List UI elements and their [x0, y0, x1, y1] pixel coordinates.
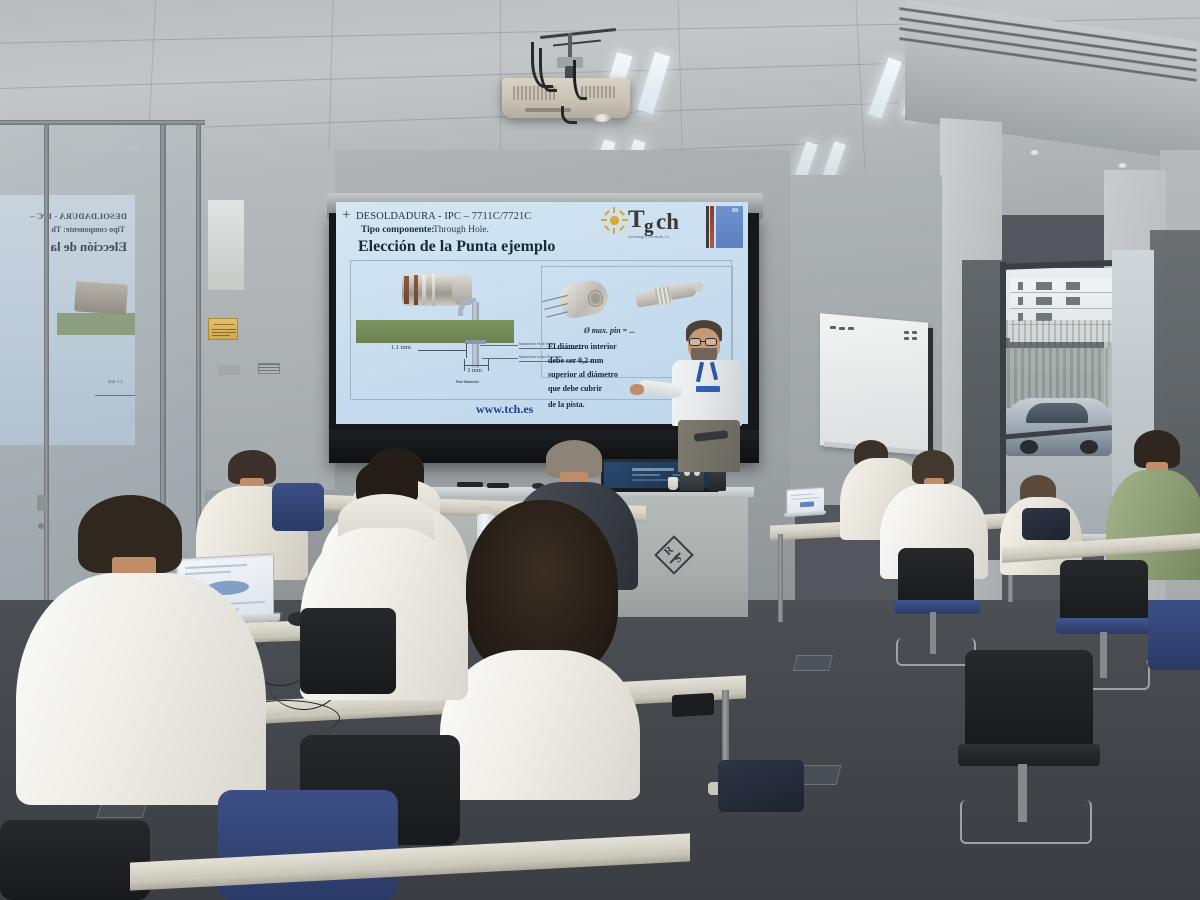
downlight — [1118, 163, 1127, 168]
reflection-subtitle: Tipo componente: Th — [52, 225, 126, 234]
presenter-badge — [696, 386, 720, 392]
student-front-left — [16, 495, 266, 805]
flipchart-clip — [830, 326, 836, 329]
chair-base — [896, 638, 976, 666]
inset-caption: Ø max. pin = ... — [584, 326, 635, 335]
flipchart-clip — [848, 327, 854, 330]
chair-seat[interactable] — [958, 744, 1100, 766]
slide-heading: Elección de la Punta ejemplo — [358, 238, 555, 256]
logo-blue-box — [716, 206, 743, 248]
glasses-lens-left — [689, 338, 701, 346]
slide-page-number: 69 — [732, 208, 738, 214]
logo-tagline: Technology & Chemicals, S.L. — [628, 235, 670, 239]
flipchart-clip — [912, 337, 917, 340]
presenter — [660, 320, 755, 500]
dimension-line-hole — [418, 350, 466, 351]
laptop-back-right — [786, 488, 826, 520]
building-window — [1018, 297, 1023, 305]
logo-letter-g: g — [644, 217, 654, 236]
flipchart-board — [820, 313, 928, 454]
floor-outlet-box — [793, 655, 833, 671]
chair-right-3[interactable] — [965, 650, 1093, 754]
interior-light-strip — [208, 200, 244, 290]
wall-mark — [218, 365, 240, 375]
chair-right-1[interactable] — [898, 548, 974, 608]
chair-right-4[interactable] — [1148, 600, 1200, 670]
logo-letter-t: T — [628, 207, 645, 232]
building-window — [1036, 297, 1052, 305]
note-line-1: El diámetro interior — [548, 342, 617, 351]
glasses-bridge — [701, 341, 706, 342]
note-line-5: de la pista. — [548, 400, 585, 409]
flipchart-clip — [904, 337, 909, 340]
slide-reflection: DESOLDADURA - IPC – Tipo componente: Th … — [0, 195, 135, 445]
dimension-label-pad: 3 mm — [467, 367, 482, 374]
pad-diameter-label: Pad Diameter — [456, 380, 479, 384]
downlight — [1030, 150, 1039, 155]
desoldering-tip-illustration — [392, 272, 502, 324]
slide-url: www.tch.es — [476, 402, 533, 417]
reflection-pcb — [57, 313, 135, 335]
classroom-scene: DESOLDADURA - IPC – Tipo componente: Th … — [0, 0, 1200, 900]
slide-subtitle-label: Tipo componente: — [361, 225, 434, 235]
reflection-heading: Elección de la — [50, 239, 127, 255]
flipchart-clip — [912, 331, 917, 334]
dimension-line-pad — [464, 365, 488, 366]
phone[interactable] — [672, 693, 714, 717]
reflection-dim: 1.1 mm — [108, 380, 123, 385]
flipchart-clip — [839, 327, 845, 330]
door-warning-sign — [208, 318, 238, 340]
rohde-schwarz-logo: R S — [654, 535, 694, 575]
chair-right-2[interactable] — [1060, 560, 1148, 626]
flipchart-clip — [904, 331, 909, 334]
pcb-board — [356, 320, 514, 343]
student-front-center-curly — [440, 500, 640, 800]
keyboard[interactable] — [487, 483, 509, 488]
ceiling-light — [868, 57, 902, 118]
logo-letter-ch: ch — [656, 210, 679, 233]
note-line-4: que debe cubrir — [548, 384, 602, 393]
note-line-3: superior al diámetro — [548, 370, 618, 379]
presenter-hand — [630, 384, 644, 395]
reflection-tip-shape — [74, 281, 128, 315]
logo-bar-dark — [706, 206, 709, 248]
glasses-lens-right — [705, 338, 717, 346]
chair-front-3[interactable] — [0, 820, 150, 900]
slide-title: DESOLDADURA - IPC – 7711C/7721C — [356, 211, 531, 222]
chair-seat[interactable] — [894, 600, 980, 614]
logo-bar-red — [710, 206, 714, 248]
slide-bullet-marker: + — [342, 208, 350, 223]
bag-under-desk — [718, 760, 804, 812]
student-lab-coat — [16, 573, 266, 805]
presenter-trousers — [678, 420, 740, 472]
ceiling-projector — [495, 20, 645, 130]
building-window — [1018, 282, 1023, 290]
building-window — [1066, 297, 1080, 305]
note-line-2: debe ser 0,2 mm — [548, 356, 603, 365]
chair-base — [960, 800, 1092, 844]
slide-subtitle-value: Through Hole. — [433, 225, 489, 235]
desk-leg — [778, 534, 783, 622]
flipchart-leg — [928, 328, 933, 458]
pcb-pad — [465, 340, 486, 344]
partition-rail — [0, 120, 205, 125]
wall-vent — [258, 363, 280, 374]
presenter-lab-coat — [672, 360, 742, 426]
building-window — [1066, 282, 1080, 290]
dimension-label-hole: 1.1 mm — [391, 344, 411, 351]
student-lab-coat — [440, 650, 640, 800]
tch-logo: T g ch Technology & Chemicals, S.L. — [604, 207, 704, 241]
bag — [1022, 508, 1070, 540]
building-window — [1036, 282, 1052, 290]
projector-lens — [593, 114, 611, 122]
chair-mid-2[interactable] — [300, 608, 396, 694]
